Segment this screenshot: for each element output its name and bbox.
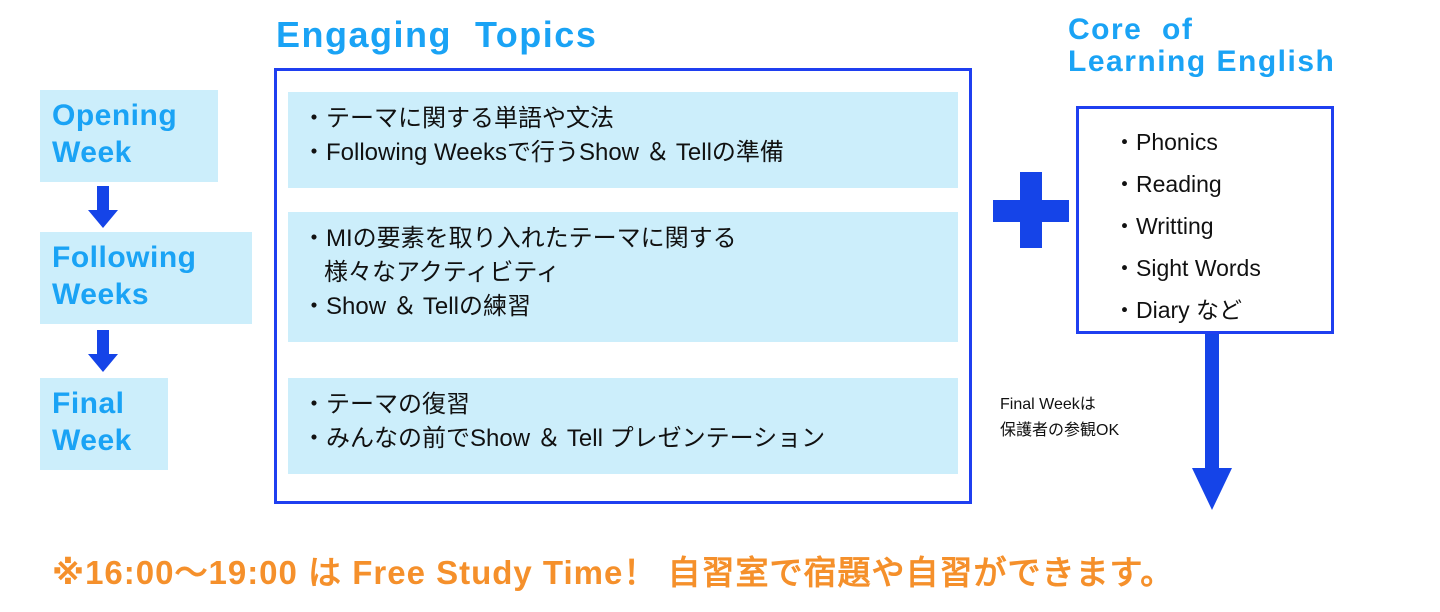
week-flow-column: Opening Week Following Weeks Final Week <box>0 0 270 520</box>
week-chip-following: Following Weeks <box>40 232 252 324</box>
final-week-note: Final Weekは 保護者の参観OK <box>1000 392 1119 444</box>
core-list-item: ・Phonics <box>1113 121 1331 163</box>
topic-line: ・Show ＆ Tellの練習 <box>302 290 944 324</box>
topic-line: ・Following Weeksで行うShow ＆ Tellの準備 <box>302 136 944 170</box>
topic-line: ・みんなの前でShow ＆ Tell プレゼンテーション <box>302 422 944 456</box>
plus-icon <box>993 172 1069 248</box>
free-study-time-note: ※16:00〜19:00 は Free Study Time！ 自習室で宿題や自… <box>52 546 1174 594</box>
diagram-canvas: Opening Week Following Weeks Final Week … <box>0 0 1440 612</box>
topic-block-opening: ・テーマに関する単語や文法・Following Weeksで行うShow ＆ T… <box>288 92 958 188</box>
core-of-learning-english-box: ・Phonics・Reading・Writting・Sight Words・Di… <box>1076 106 1334 334</box>
core-list-item: ・Sight Words <box>1113 247 1331 289</box>
arrow-following-to-final <box>86 330 120 372</box>
week-chip-final: Final Week <box>40 378 168 470</box>
week-chip-opening: Opening Week <box>40 90 218 182</box>
core-list-item: ・Writting <box>1113 205 1331 247</box>
arrow-opening-to-following <box>86 186 120 228</box>
topic-line: ・テーマの復習 <box>302 388 944 422</box>
topic-block-following: ・MIの要素を取り入れたテーマに関する様々なアクティビティ・Show ＆ Tel… <box>288 212 958 342</box>
topic-line: ・テーマに関する単語や文法 <box>302 102 944 136</box>
topic-line: ・MIの要素を取り入れたテーマに関する <box>302 222 944 256</box>
core-list-item: ・Diary など <box>1113 289 1331 331</box>
topic-block-final: ・テーマの復習・みんなの前でShow ＆ Tell プレゼンテーション <box>288 378 958 474</box>
core-list-item: ・Reading <box>1113 163 1331 205</box>
core-of-learning-english-title: Core of Learning English <box>1068 14 1335 79</box>
topic-line: 様々なアクティビティ <box>302 256 944 290</box>
arrow-core-to-bottom <box>1190 334 1234 510</box>
engaging-topics-title: Engaging Topics <box>276 16 597 55</box>
